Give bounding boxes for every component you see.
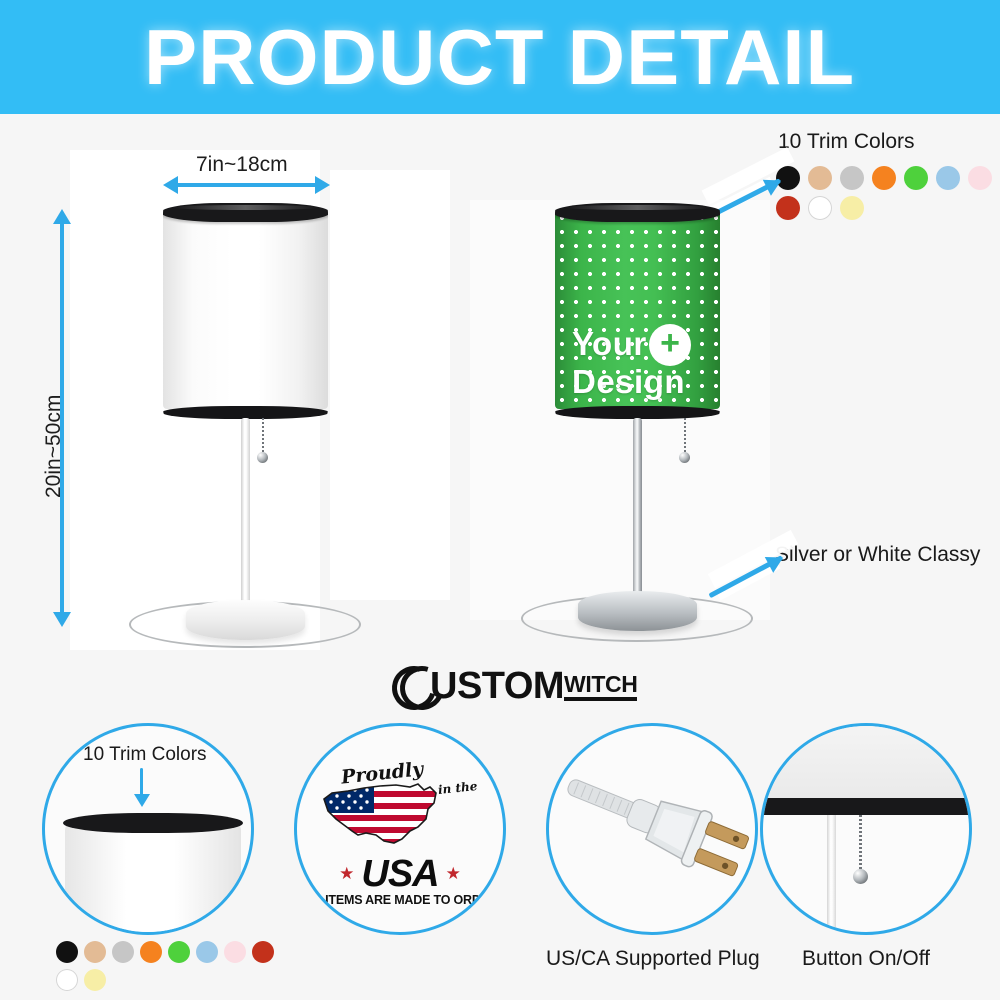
trim-swatch-green[interactable] xyxy=(168,941,190,963)
bg-patch xyxy=(330,170,450,600)
pull-chain-ball xyxy=(679,452,690,463)
power-plug-icon xyxy=(549,726,755,932)
shade-trim-closeup xyxy=(63,813,243,833)
add-design-icon[interactable]: + xyxy=(649,324,691,366)
shade-trim-top xyxy=(555,203,720,222)
switch-circle xyxy=(760,723,972,935)
shade-closeup xyxy=(65,822,241,935)
logo-main-text: USTOM xyxy=(430,668,564,704)
plug-caption: US/CA Supported Plug xyxy=(546,947,758,971)
usa-star-right: ★ xyxy=(446,864,461,884)
product-detail-page: PRODUCT DETAIL 10 Trim Colors 7in~18cm 2… xyxy=(0,0,1000,1000)
shade-bottom-closeup xyxy=(763,726,972,804)
trim-swatch-gray[interactable] xyxy=(112,941,134,963)
lamp-base-silver xyxy=(578,591,697,631)
width-arrow-left xyxy=(163,176,178,194)
trim-swatch-yellow[interactable] xyxy=(840,196,864,220)
trim-colors-pointer-arrow xyxy=(134,794,150,807)
pull-chain-closeup xyxy=(859,815,862,873)
height-dimension-line xyxy=(60,222,64,616)
trim-swatch-orange[interactable] xyxy=(140,941,162,963)
height-arrow-up xyxy=(53,209,71,224)
plus-symbol: + xyxy=(660,326,680,360)
base-finish-label: Silver or White Classy xyxy=(775,543,980,567)
lamp-base-white xyxy=(186,600,305,640)
trim-swatch-light-blue[interactable] xyxy=(196,941,218,963)
pull-chain xyxy=(684,418,686,456)
shade-surface xyxy=(163,211,328,409)
logo-sub-text: WITCH xyxy=(564,674,637,701)
trim-swatch-tan[interactable] xyxy=(808,166,832,190)
design-text-line2: Design xyxy=(572,365,685,399)
trim-swatch-black[interactable] xyxy=(56,941,78,963)
height-arrow-down xyxy=(53,612,71,627)
usa-word: USA xyxy=(361,855,438,893)
trim-colors-feature-heading: 10 Trim Colors xyxy=(83,744,207,766)
lamp-shade-white xyxy=(163,203,328,419)
trim-swatch-red[interactable] xyxy=(252,941,274,963)
trim-swatch-gray[interactable] xyxy=(840,166,864,190)
width-arrow-right xyxy=(315,176,330,194)
logo-c-mark-icon xyxy=(392,664,432,704)
page-title: PRODUCT DETAIL xyxy=(144,12,855,103)
trim-swatch-pink[interactable] xyxy=(224,941,246,963)
lamp-pole-closeup xyxy=(827,815,836,935)
pull-chain xyxy=(262,418,264,456)
lamp-pole-silver xyxy=(633,418,642,598)
trim-swatch-tan[interactable] xyxy=(84,941,106,963)
trim-swatch-red[interactable] xyxy=(776,196,800,220)
page-banner: PRODUCT DETAIL xyxy=(0,0,1000,114)
trim-swatch-white[interactable] xyxy=(56,969,78,991)
usa-map-flag-icon xyxy=(318,779,446,851)
trim-swatch-white[interactable] xyxy=(808,196,832,220)
trim-colors-heading: 10 Trim Colors xyxy=(778,130,915,154)
lamp-pole-white xyxy=(241,418,250,613)
trim-colors-feature-swatches xyxy=(56,941,286,997)
shade-trim-closeup xyxy=(760,798,972,815)
trim-swatch-green[interactable] xyxy=(904,166,928,190)
width-dimension-line xyxy=(172,183,320,187)
plug-circle xyxy=(546,723,758,935)
usa-badge: Proudly Made in the xyxy=(297,726,503,932)
pull-chain-ball xyxy=(257,452,268,463)
switch-caption: Button On/Off xyxy=(760,947,972,971)
brand-logo: USTOM WITCH xyxy=(392,664,637,704)
lamp-shade-custom: Your + Design xyxy=(555,203,720,419)
trim-swatch-yellow[interactable] xyxy=(84,969,106,991)
trim-swatch-light-blue[interactable] xyxy=(936,166,960,190)
trim-colors-swatch-row xyxy=(776,166,1000,226)
trim-swatch-pink[interactable] xyxy=(968,166,992,190)
shade-trim-top xyxy=(163,203,328,222)
usa-star-left: ★ xyxy=(339,864,354,884)
design-text-line1: Your xyxy=(572,327,647,361)
width-dimension-label: 7in~18cm xyxy=(196,153,288,177)
trim-swatch-orange[interactable] xyxy=(872,166,896,190)
pull-chain-ball-closeup xyxy=(853,869,868,884)
usa-footer-text: ALL ITEMS ARE MADE TO ORDER! xyxy=(298,893,501,907)
made-in-usa-circle: Proudly Made in the xyxy=(294,723,506,935)
